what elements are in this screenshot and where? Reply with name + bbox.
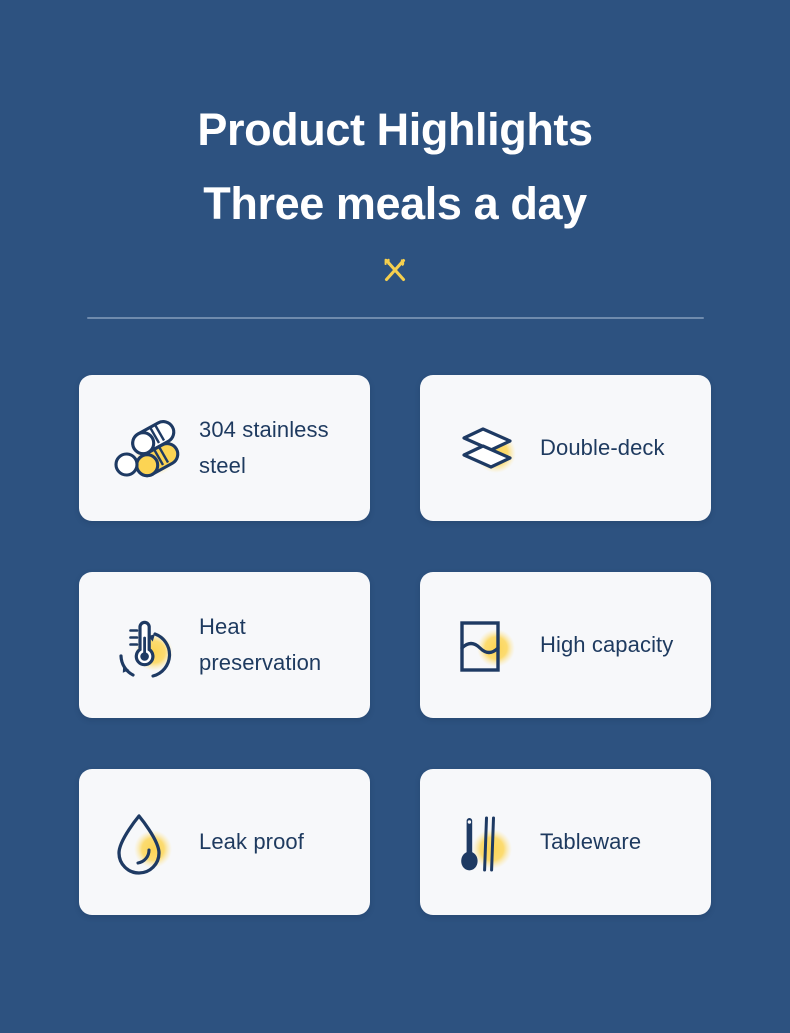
feature-card-heat-preservation[interactable]: Heat preservation — [79, 572, 370, 718]
container-fill-icon — [448, 606, 526, 684]
layers-icon — [448, 409, 526, 487]
feature-label: Leak proof — [199, 824, 304, 860]
water-drop-icon — [107, 803, 185, 881]
product-highlights-page: Product Highlights Three meals a day — [0, 0, 790, 1033]
crossed-utensils-icon — [378, 253, 412, 287]
page-title-line-1: Product Highlights — [197, 93, 592, 167]
spoon-chopsticks-icon — [448, 803, 526, 881]
thermometer-rotate-icon — [107, 606, 185, 684]
feature-label: Double-deck — [540, 430, 665, 466]
section-divider — [87, 317, 704, 319]
feature-card-stainless-steel[interactable]: 304 stainless steel — [79, 375, 370, 521]
page-title-line-2: Three meals a day — [197, 167, 592, 241]
feature-card-tableware[interactable]: Tableware — [420, 769, 711, 915]
feature-card-leak-proof[interactable]: Leak proof — [79, 769, 370, 915]
feature-card-grid: 304 stainless steel — [79, 375, 711, 915]
feature-label: Tableware — [540, 824, 641, 860]
feature-card-high-capacity[interactable]: High capacity — [420, 572, 711, 718]
feature-card-double-deck[interactable]: Double-deck — [420, 375, 711, 521]
page-title: Product Highlights Three meals a day — [197, 93, 592, 241]
feature-label: 304 stainless steel — [199, 412, 370, 483]
stacked-pipes-icon — [107, 409, 185, 487]
feature-label: High capacity — [540, 627, 673, 663]
feature-label: Heat preservation — [199, 609, 370, 680]
